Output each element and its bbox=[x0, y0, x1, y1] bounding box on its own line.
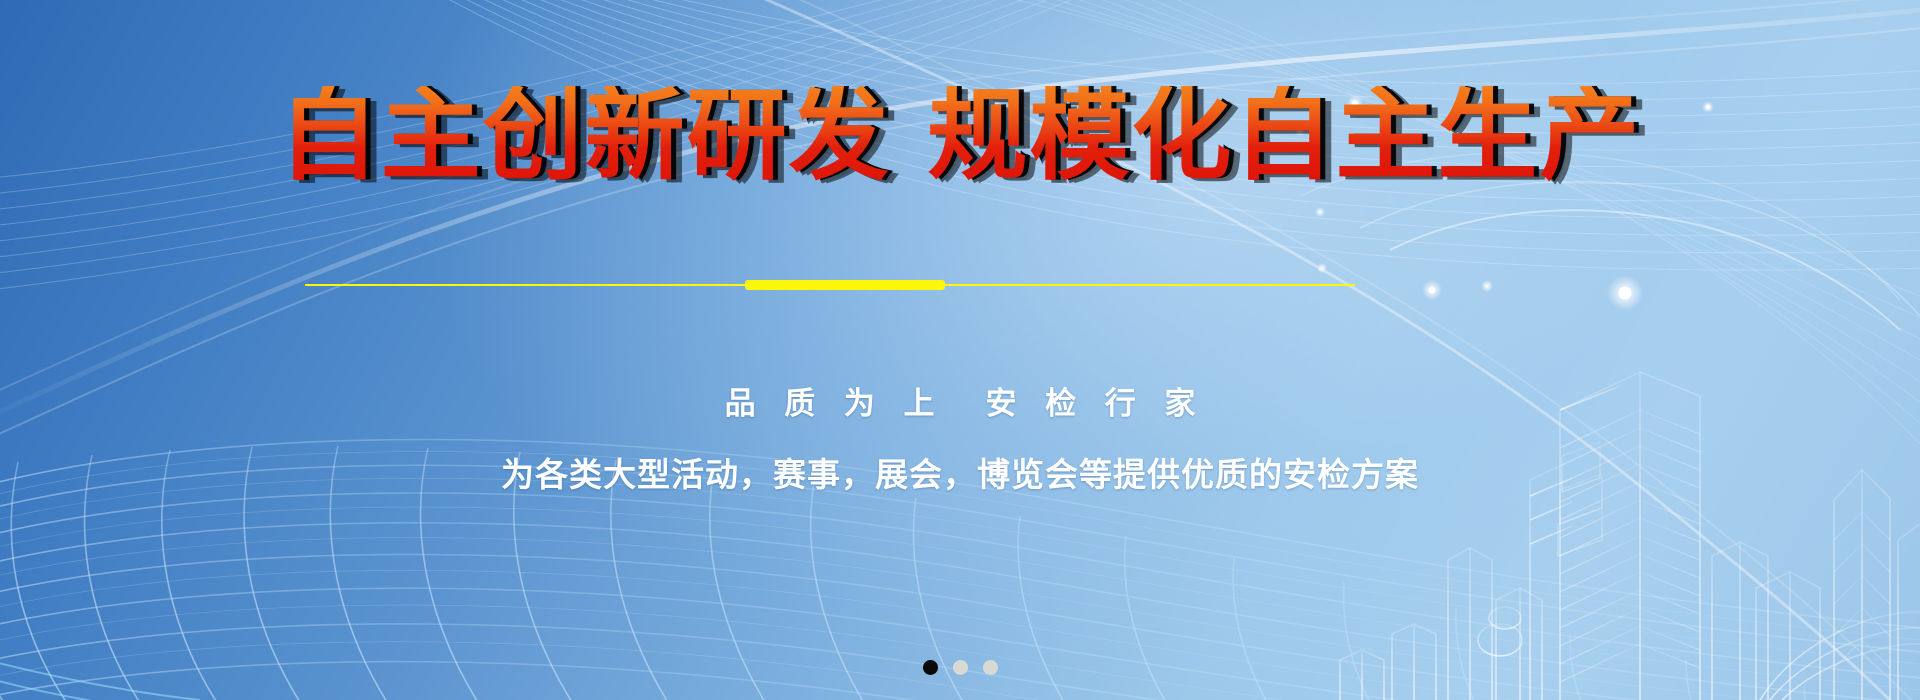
carousel-indicators: 1 2 3 bbox=[0, 660, 1920, 675]
divider-thick-segment bbox=[745, 280, 945, 290]
headline-container: 自主创新研发 规模化自主生产 bbox=[0, 86, 1920, 186]
banner-main-title: 自主创新研发 规模化自主生产 bbox=[279, 86, 1642, 186]
cityscape-wireframe bbox=[1340, 300, 1920, 700]
banner-subtitle-primary: 品 质 为 上 安 检 行 家 bbox=[0, 378, 1920, 423]
banner-subtitle-secondary: 为各类大型活动，赛事，展会，博览会等提供优质的安检方案 bbox=[0, 448, 1920, 496]
yellow-divider bbox=[305, 279, 1355, 291]
carousel-dot-1[interactable]: 1 bbox=[923, 660, 938, 675]
carousel-dot-2[interactable]: 2 bbox=[953, 660, 968, 675]
hero-banner: 自主创新研发 规模化自主生产 品 质 为 上 安 检 行 家 为各类大型活动，赛… bbox=[0, 0, 1920, 700]
carousel-dot-3[interactable]: 3 bbox=[983, 660, 998, 675]
